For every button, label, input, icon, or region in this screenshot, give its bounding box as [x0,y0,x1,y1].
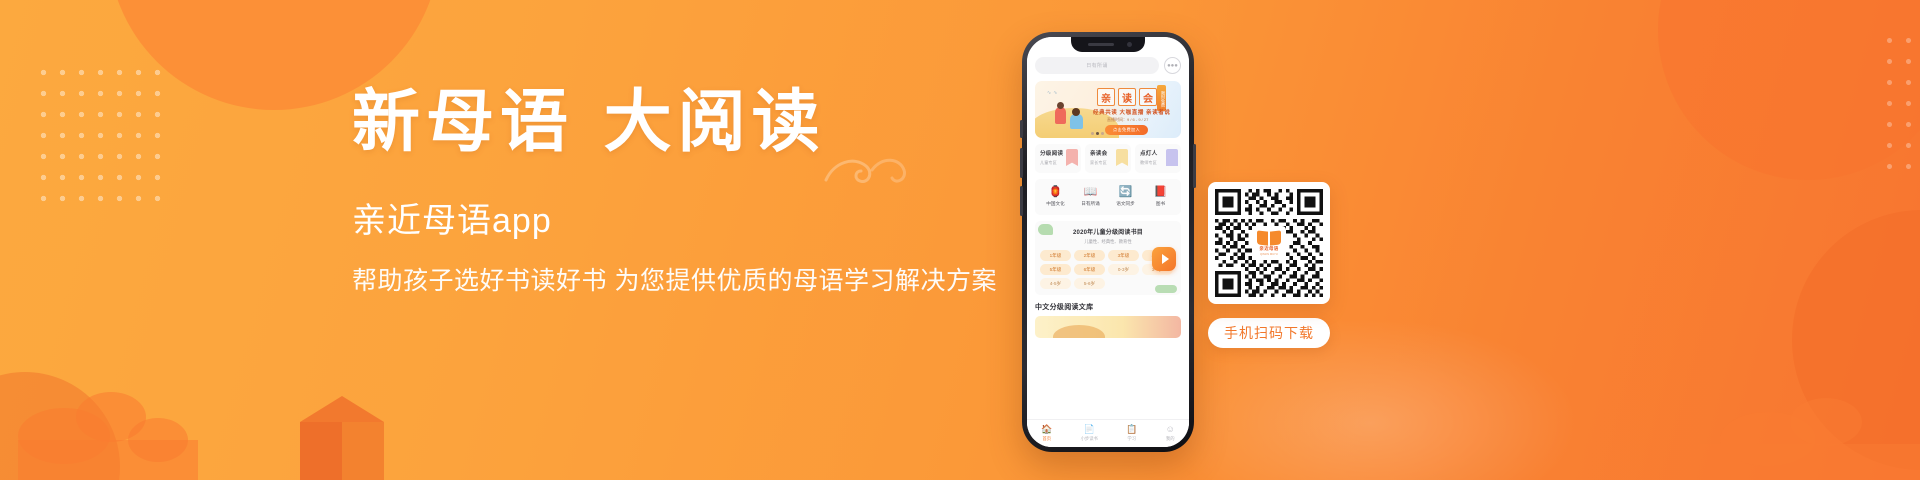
book-logo-icon [1257,231,1281,245]
banner-headline: 新母语 大阅读 [352,88,1012,156]
booklist-subtitle: 儿童性、经典性、教育性 [1040,239,1176,245]
book-icon: 📕 [1154,187,1168,198]
decor-dot-grid [34,62,168,210]
decor-circle-top-right [1658,0,1920,180]
section-title: 中文分级阅读文库 [1035,302,1181,312]
app-screen: 日有所诵 ●●● ∿∿ 亲 读 会 限时免费 经典共读 大 [1027,37,1189,447]
icon-label: 中国文化 [1046,201,1064,207]
app-hero-banner[interactable]: ∿∿ 亲 读 会 限时免费 经典共读 大咖直播 亲读者说 直播时间：9 / 6 … [1035,81,1181,138]
grade-chip[interactable]: 6年级 [1074,264,1105,275]
hero-date: 直播时间：9 / 6 - 9 / 27 [1107,117,1148,123]
app-search-row: 日有所诵 ●●● [1035,57,1181,74]
hero-title: 亲 读 会 [1097,88,1157,106]
profile-icon: ☺ [1166,425,1175,434]
qr-logo-name: 亲近母语 [1259,246,1278,252]
grade-chip[interactable]: 1年级 [1040,250,1071,261]
tab-reading[interactable]: 📄 小步读书 [1081,425,1098,442]
reading-icon: 📄 [1084,425,1095,434]
app-search-input[interactable]: 日有所诵 [1035,57,1159,74]
promo-banner: 新母语 大阅读 亲近母语app 帮助孩子选好书读好书 为您提供优质的母语学习解决… [0,0,1920,480]
age-chip[interactable]: 0-3岁 [1108,264,1139,275]
qr-code[interactable]: 亲近母语 QINJIN MUYU [1208,182,1330,304]
icon-item-chinese-culture[interactable]: 🏮 中国文化 [1041,187,1071,207]
app-icon-row: 🏮 中国文化 📖 日有所诵 🔄 语文同步 📕 图书 [1035,179,1181,215]
phone-notch [1071,37,1145,52]
icon-item-books[interactable]: 📕 图书 [1146,187,1176,207]
hero-title-char: 读 [1118,88,1136,106]
leaf-decor-icon2 [1155,285,1177,293]
open-book-icon: 📖 [1084,187,1098,198]
banner-tagline: 帮助孩子选好书读好书 为您提供优质的母语学习解决方案 [352,269,1012,294]
decor-cloud-base-right [1700,444,1920,480]
grade-chip[interactable]: 2年级 [1074,250,1105,261]
study-icon: 📋 [1126,425,1137,434]
tab-label: 首页 [1042,436,1051,442]
qr-center-logo: 亲近母语 QINJIN MUYU [1252,226,1286,260]
badge-purple-icon [1166,149,1178,166]
message-icon[interactable]: ●●● [1164,57,1181,74]
icon-item-sync-course[interactable]: 🔄 语文同步 [1111,187,1141,207]
qr-download-block: 亲近母语 QINJIN MUYU 手机扫码下载 [1208,182,1330,348]
age-chip[interactable]: 4-5岁 [1040,278,1071,289]
app-tab-bar: 🏠 首页 📄 小步读书 📋 学习 ☺ 我的 [1027,419,1189,447]
quick-card-parent-club[interactable]: 亲读会 家长专区 [1085,144,1131,173]
qr-logo-en: QINJIN MUYU [1260,253,1278,256]
qr-code-image: 亲近母语 QINJIN MUYU [1215,189,1323,297]
decor-dot-grid-right [1880,30,1920,180]
decor-cloud-e [1790,398,1862,446]
hero-title-char: 亲 [1097,88,1115,106]
section-card[interactable] [1035,316,1181,338]
phone-mute-switch [1020,120,1023,138]
grade-chip[interactable]: 5年级 [1040,264,1071,275]
booklist-title: 2020年儿童分级阅读书目 [1040,227,1176,236]
hero-title-char: 会 [1139,88,1157,106]
tab-profile[interactable]: ☺ 我的 [1166,425,1175,442]
sync-icon: 🔄 [1119,187,1133,198]
hero-birds-decor: ∿∿ [1047,90,1059,96]
app-search-placeholder: 日有所诵 [1086,62,1108,69]
phone-power-button [1193,144,1196,188]
tab-label: 我的 [1166,436,1175,442]
phone-volume-up [1020,148,1023,178]
phone-volume-down [1020,186,1023,216]
leaf-decor-icon [1038,224,1053,235]
home-icon: 🏠 [1041,425,1052,434]
hero-cta-button[interactable]: 点击免费加入 [1105,125,1148,135]
quick-card-teacher[interactable]: 点灯人 教师专区 [1135,144,1181,173]
tab-study[interactable]: 📋 学习 [1126,425,1137,442]
icon-label: 语文同步 [1116,201,1134,207]
phone-screen-frame: 日有所诵 ●●● ∿∿ 亲 读 会 限时免费 经典共读 大 [1027,37,1189,447]
phone-mockup: 日有所诵 ●●● ∿∿ 亲 读 会 限时免费 经典共读 大 [1022,32,1194,452]
app-quick-cards: 分级阅读 儿童专区 亲读会 家长专区 点灯人 教师专区 [1035,144,1181,173]
quick-card-graded-reading[interactable]: 分级阅读 儿童专区 [1035,144,1081,173]
icon-label: 日有所诵 [1081,201,1099,207]
play-icon[interactable] [1152,247,1176,271]
grade-chip[interactable]: 3年级 [1108,250,1139,261]
tab-label: 学习 [1127,436,1136,442]
hero-carousel-dots[interactable] [1091,132,1104,135]
icon-label: 图书 [1156,201,1165,207]
decor-cube [300,396,384,480]
decor-cloud-base [18,440,198,480]
app-booklist-card[interactable]: 2020年儿童分级阅读书目 儿童性、经典性、教育性 1年级 2年级 3年级 4年… [1035,221,1181,295]
banner-subtitle: 亲近母语app [352,204,1012,238]
hero-subtitle: 经典共读 大咖直播 亲读者说 [1093,108,1170,116]
age-chip[interactable]: 5-6岁 [1074,278,1105,289]
icon-item-daily-recite[interactable]: 📖 日有所诵 [1076,187,1106,207]
tab-home[interactable]: 🏠 首页 [1041,425,1052,442]
tab-label: 小步读书 [1081,436,1098,442]
lantern-icon: 🏮 [1049,187,1063,198]
banner-copy: 新母语 大阅读 亲近母语app 帮助孩子选好书读好书 为您提供优质的母语学习解决… [352,88,1012,294]
download-button[interactable]: 手机扫码下载 [1208,318,1330,348]
